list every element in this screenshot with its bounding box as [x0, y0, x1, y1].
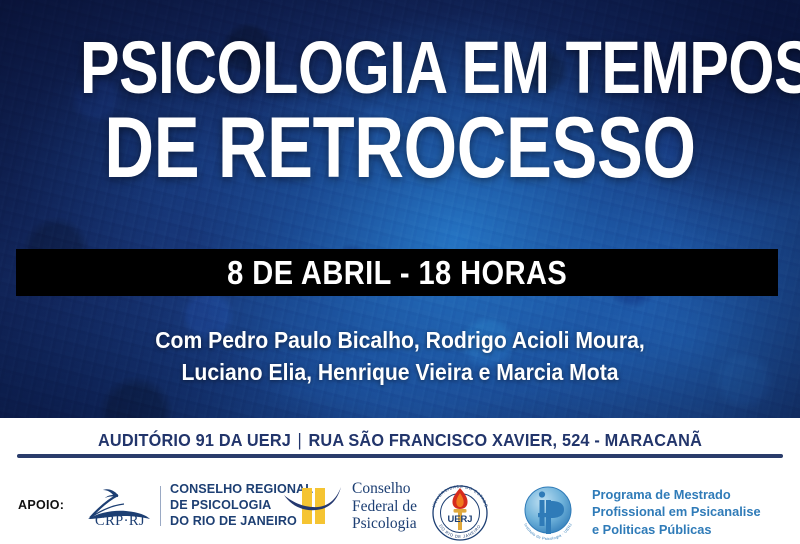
crp-divider: [160, 486, 161, 526]
sponsors-row: APOIO: CRP·RJ CONSELHO REGIONAL DE PSICO…: [0, 468, 800, 544]
cfp-name-line-1: Conselho: [352, 480, 417, 498]
sponsor-logo-uerj: UERJ UNIVERSIDADE DO ESTADO DO RIO DE JA…: [424, 478, 496, 544]
cfp-bars-icon: [282, 481, 344, 531]
speakers-block: Com Pedro Paulo Bicalho, Rodrigo Acioli …: [0, 325, 800, 388]
event-poster: PSICOLOGIA EM TEMPOS DE RETROCESSO 8 DE …: [0, 0, 800, 544]
svg-text:UERJ: UERJ: [447, 513, 472, 524]
ip-program-line-2: Profissional em Psicanalise: [592, 503, 761, 520]
sponsor-logo-crp-rj: CRP·RJ CONSELHO REGIONAL DE PSICOLOGIA D…: [78, 482, 313, 530]
sponsor-logo-cfp: Conselho Federal de Psicologia: [282, 480, 417, 533]
venue-separator: |: [291, 430, 308, 451]
poster-title: PSICOLOGIA EM TEMPOS DE RETROCESSO: [0, 34, 800, 189]
speakers-line-2: Luciano Elia, Henrique Vieira e Marcia M…: [32, 357, 768, 389]
venue-street-address: RUA SÃO FRANCISCO XAVIER, 524 - MARACANÃ: [308, 430, 702, 450]
uerj-seal-icon: UERJ UNIVERSIDADE DO ESTADO DO RIO DE JA…: [424, 478, 496, 544]
venue-name: AUDITÓRIO 91 DA UERJ: [98, 430, 291, 450]
crp-wordmark: CRP·RJ: [84, 513, 156, 530]
poster-footer: AUDITÓRIO 91 DA UERJ|RUA SÃO FRANCISCO X…: [0, 418, 800, 544]
crp-bird-book-icon: CRP·RJ: [78, 483, 156, 529]
speakers-line-1: Com Pedro Paulo Bicalho, Rodrigo Acioli …: [32, 325, 768, 357]
ip-program-name-block: Programa de Mestrado Profissional em Psi…: [592, 486, 761, 538]
venue-address-line: AUDITÓRIO 91 DA UERJ|RUA SÃO FRANCISCO X…: [28, 430, 772, 451]
title-line-1: PSICOLOGIA EM TEMPOS: [80, 34, 720, 103]
cfp-name-line-3: Psicologia: [352, 515, 417, 533]
title-line-2: DE RETROCESSO: [80, 109, 720, 189]
ip-program-line-1: Programa de Mestrado: [592, 486, 761, 503]
sponsors-label: APOIO:: [18, 498, 64, 512]
sponsor-logo-ip: Instituto de Psicologia · UERJ Programa …: [516, 480, 761, 544]
footer-divider-rule: [17, 454, 783, 458]
ip-monogram-icon: Instituto de Psicologia · UERJ: [516, 480, 586, 544]
cfp-name-block: Conselho Federal de Psicologia: [352, 480, 417, 533]
date-banner: 8 DE ABRIL - 18 HORAS: [16, 249, 778, 296]
date-banner-text: 8 DE ABRIL - 18 HORAS: [227, 254, 567, 292]
ip-program-line-3: e Politicas Públicas: [592, 521, 761, 538]
cfp-name-line-2: Federal de: [352, 498, 417, 516]
